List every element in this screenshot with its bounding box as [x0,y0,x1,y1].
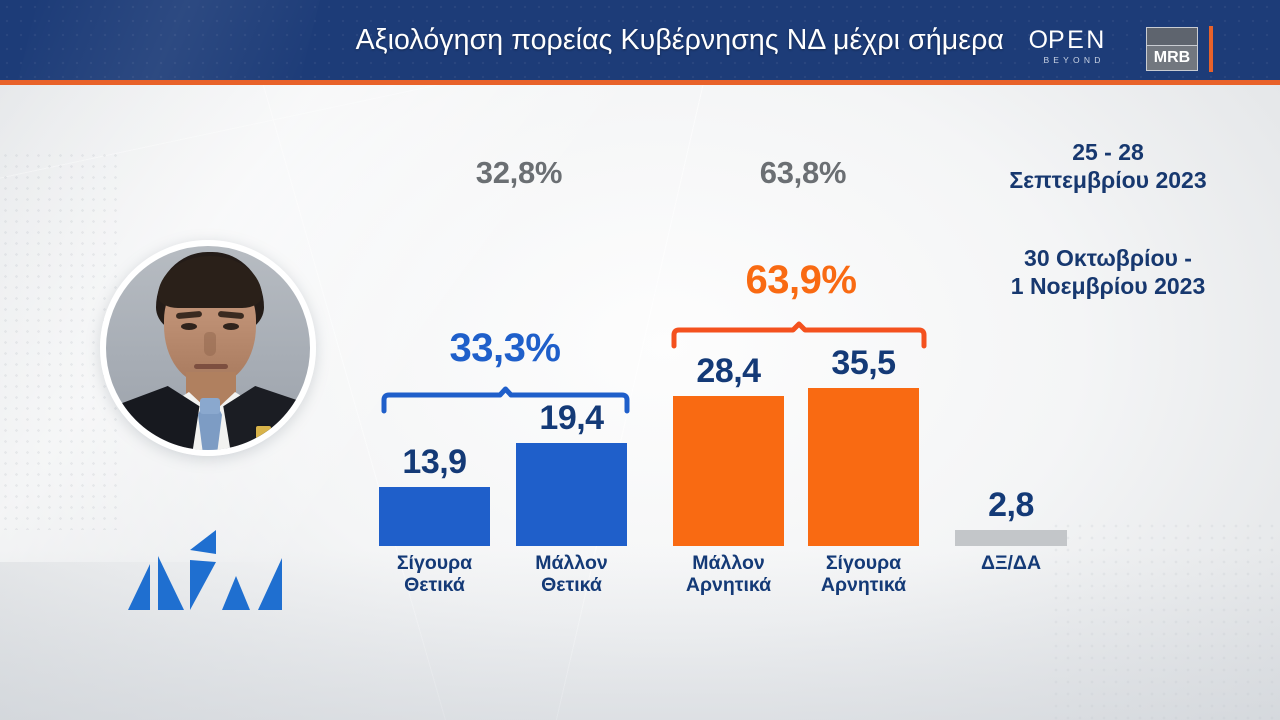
group-total-negative: 63,9% [746,258,857,303]
date-previous-line2: Σεπτεμβρίου 2023 [1009,166,1206,194]
bar-column-2: 28,4 ΜάλλονΑρνητικά [673,396,784,546]
bar-label-2: ΜάλλονΑρνητικά [686,553,771,597]
bar-column-4: 2,8 ΔΞ/ΔΑ [955,530,1067,546]
bar-value-2: 28,4 [696,352,760,391]
date-previous-line1: 25 - 28 [1009,138,1206,166]
bar-value-0: 13,9 [402,443,466,482]
date-current-line1: 30 Οκτωβρίου - [1011,244,1205,272]
bar-label-3: ΣίγουραΑρνητικά [821,553,906,597]
bar-label-4: ΔΞ/ΔΑ [981,553,1041,575]
bar-label-1: ΜάλλονΘετικά [535,553,607,597]
previous-total-negative: 63,8% [760,155,846,191]
bar-column-0: 13,9 ΣίγουραΘετικά [379,487,490,546]
date-current-line2: 1 Νοεμβρίου 2023 [1011,272,1205,300]
bar-value-4: 2,8 [988,486,1034,525]
group-total-positive: 33,3% [450,326,561,371]
date-current-wave: 30 Οκτωβρίου - 1 Νοεμβρίου 2023 [1011,244,1205,301]
bar-column-3: 35,5 ΣίγουραΑρνητικά [808,388,919,546]
infographic-root: Αξιολόγηση πορείας Κυβέρνησης ΝΔ μέχρι σ… [0,0,1280,720]
bar-value-1: 19,4 [539,399,603,438]
date-previous-wave: 25 - 28 Σεπτεμβρίου 2023 [1009,138,1206,195]
bar-chart: 32,8% 63,8% 33,3% 63,9% 13,9 ΣίγουραΘετι… [0,0,1280,720]
bar-column-1: 19,4 ΜάλλονΘετικά [516,443,627,546]
bar-value-3: 35,5 [831,344,895,383]
previous-total-positive: 32,8% [476,155,562,191]
bar-label-0: ΣίγουραΘετικά [397,553,472,597]
